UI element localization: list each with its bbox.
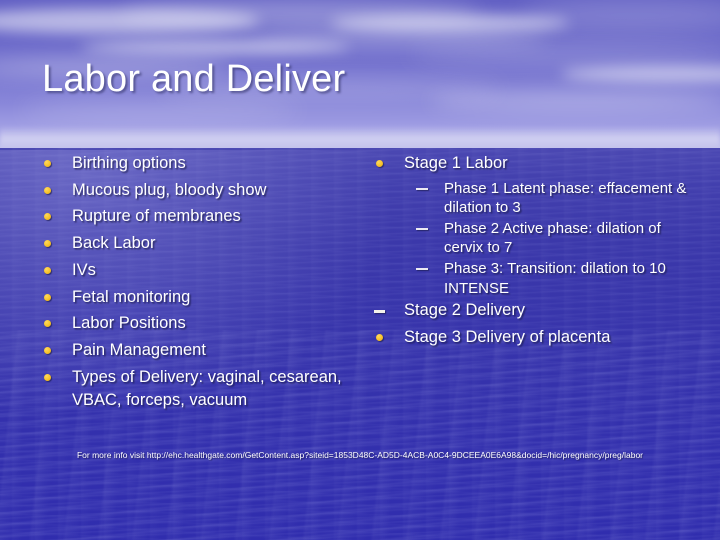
bullet-dot-icon [44,294,51,301]
list-item: Mucous plug, bloody show [40,179,360,202]
list-item: Stage 2 Delivery [372,299,702,322]
list-item: Stage 1 Labor [372,152,702,175]
bullet-dash-icon [416,268,428,270]
list-item: Pain Management [40,339,360,362]
list-item: Fetal monitoring [40,286,360,309]
bullet-dot-icon [44,267,51,274]
list-item-label: Rupture of membranes [72,205,360,228]
list-item: IVs [40,259,360,282]
bullet-dot-icon [44,240,51,247]
bullet-dash-icon [416,228,428,230]
bullet-dot-icon [44,320,51,327]
list-item: Back Labor [40,232,360,255]
footer-source-url: For more info visit http://ehc.healthgat… [60,450,660,462]
list-item-label: Labor Positions [72,312,360,335]
list-item: Labor Positions [40,312,360,335]
bullet-dot-icon [44,213,51,220]
list-item-label: Birthing options [72,152,360,175]
slide-title: Labor and Deliver [42,56,682,102]
list-item: Birthing options [40,152,360,175]
list-item: Stage 3 Delivery of placenta [372,326,702,349]
bullet-dot-icon [44,187,51,194]
list-item: Rupture of membranes [40,205,360,228]
list-item-label: Fetal monitoring [72,286,360,309]
bullet-dot-icon [44,374,51,381]
list-item-label: Mucous plug, bloody show [72,179,360,202]
slide-canvas: Labor and Deliver Birthing options Mucou… [0,0,720,540]
sub-list-item-label: Phase 2 Active phase: dilation of cervix… [444,219,702,258]
sub-list-item: Phase 3: Transition: dilation to 10 INTE… [372,259,702,298]
left-content-column: Birthing options Mucous plug, bloody sho… [40,152,360,416]
sub-list-item-label: Phase 1 Latent phase: effacement & dilat… [444,179,702,218]
list-item-label: Types of Delivery: vaginal, cesarean, VB… [72,366,360,412]
list-item-label: Stage 1 Labor [404,152,702,175]
bullet-dot-icon [44,347,51,354]
right-content-column: Stage 1 Labor Phase 1 Latent phase: effa… [372,152,702,353]
bullet-dot-icon [376,160,383,167]
bullet-dot-icon [376,334,383,341]
sub-list-item: Phase 2 Active phase: dilation of cervix… [372,219,702,258]
sub-list-item-label: Phase 3: Transition: dilation to 10 INTE… [444,259,702,298]
list-item-label: Back Labor [72,232,360,255]
list-item-label: Stage 3 Delivery of placenta [404,326,702,349]
sub-list-item: Phase 1 Latent phase: effacement & dilat… [372,179,702,218]
bullet-dash-icon [374,310,385,313]
bullet-dot-icon [44,160,51,167]
list-item: Types of Delivery: vaginal, cesarean, VB… [40,366,360,412]
list-item-label: IVs [72,259,360,282]
bullet-dash-icon [416,188,428,190]
list-item-label: Pain Management [72,339,360,362]
list-item-label: Stage 2 Delivery [404,299,702,322]
